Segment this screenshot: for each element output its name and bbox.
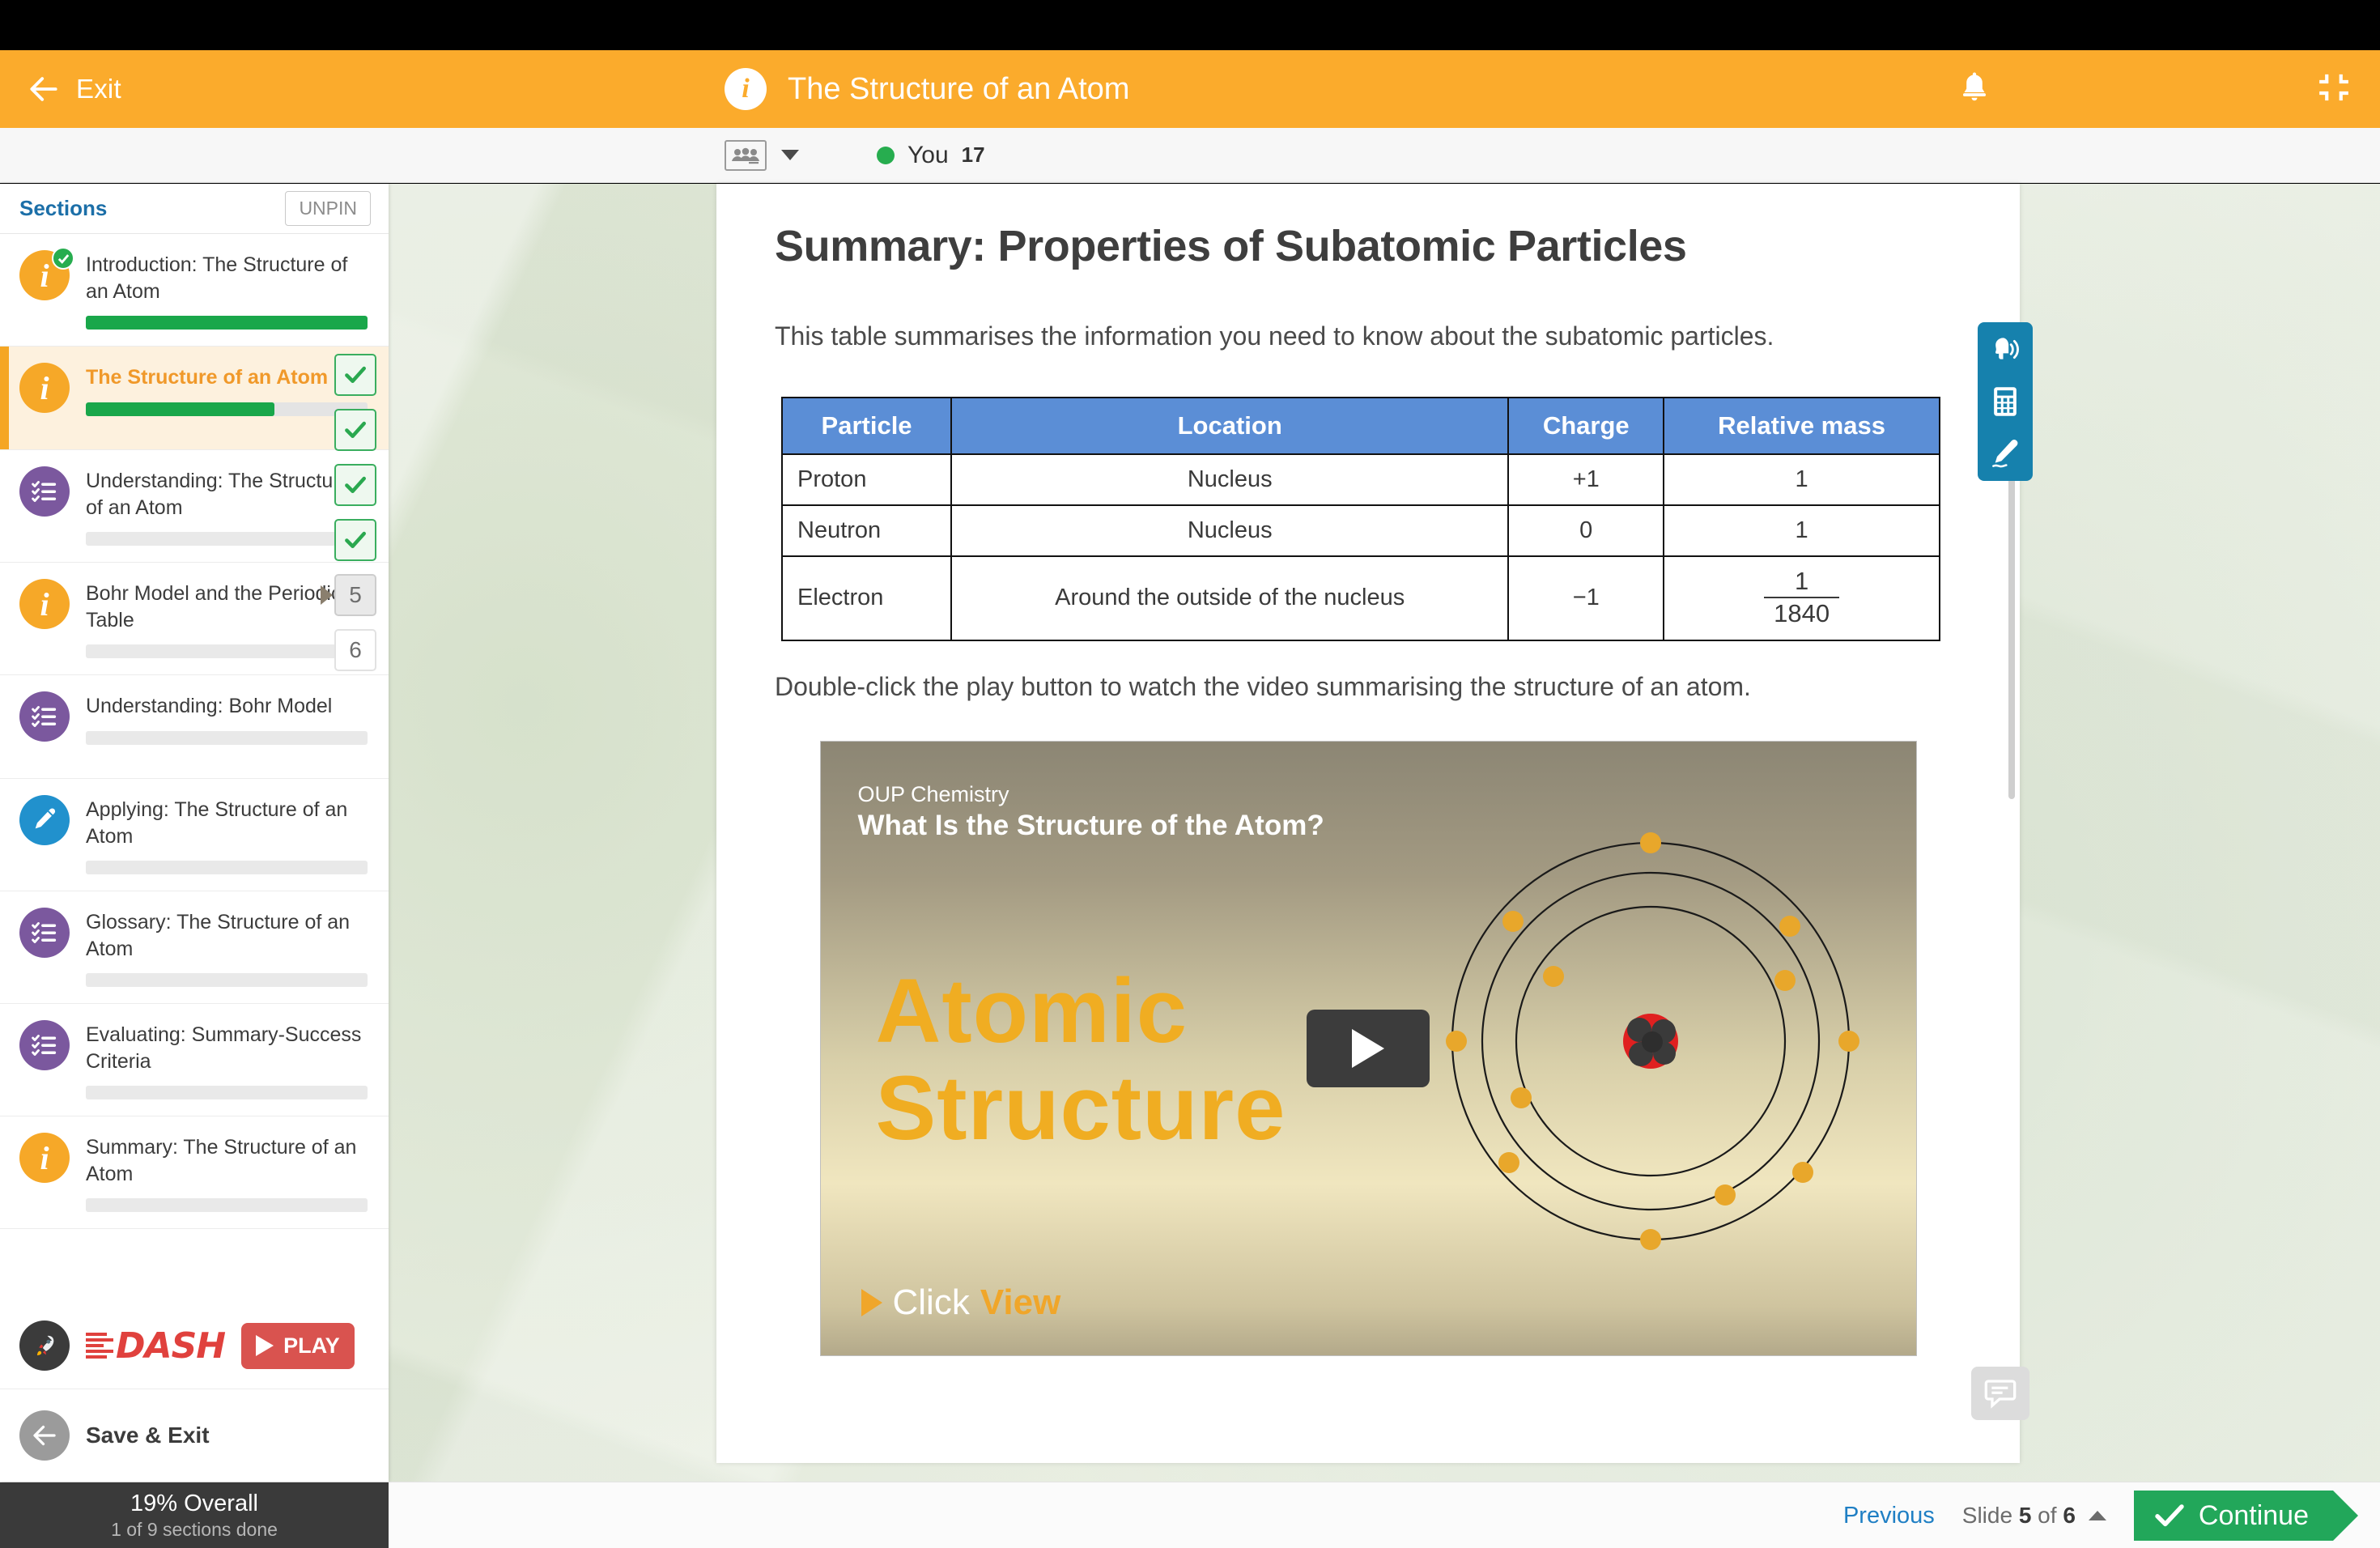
- slide-marker-5[interactable]: 5: [334, 574, 376, 616]
- comment-icon[interactable]: [1971, 1367, 2029, 1420]
- slide-marker-4[interactable]: [334, 519, 376, 561]
- cell-relative-mass: 1: [1664, 505, 1940, 556]
- dash-play-label: PLAY: [283, 1333, 340, 1359]
- cell-relative-mass: 1: [1664, 454, 1940, 505]
- checklist-icon: [19, 908, 70, 958]
- sidebar-header: Sections UNPIN: [0, 184, 389, 234]
- slide-navigation: Previous Slide 5 of 6 Continue: [1843, 1482, 2380, 1548]
- dash-wordmark: DASH: [116, 1325, 225, 1367]
- video-player[interactable]: OUP Chemistry What Is the Structure of t…: [820, 741, 1917, 1356]
- save-and-exit-button[interactable]: Save & Exit: [0, 1389, 389, 1482]
- info-icon: i: [19, 363, 70, 413]
- tools-dock: [1978, 322, 2033, 481]
- cell-charge: 0: [1508, 505, 1664, 556]
- sidebar-item-label: Bohr Model and the Periodic Table: [86, 580, 368, 633]
- section-progress-bar: [86, 861, 368, 874]
- section-progress-bar: [86, 316, 368, 330]
- sidebar-item-label: Understanding: Bohr Model: [86, 693, 368, 720]
- video-play-button[interactable]: [1307, 1010, 1430, 1087]
- sidebar-item-4[interactable]: Understanding: Bohr Model: [0, 675, 389, 779]
- header-title-group: i The Structure of an Atom: [725, 68, 1129, 110]
- overall-progress: 19% Overall 1 of 9 sections done: [0, 1482, 389, 1548]
- info-icon: i: [19, 579, 70, 629]
- section-progress-bar: [86, 532, 368, 546]
- cell-particle: Proton: [782, 454, 951, 505]
- progress-sections: 1 of 9 sections done: [111, 1519, 278, 1541]
- table-row: NeutronNucleus01: [782, 505, 1940, 556]
- section-progress-bar: [86, 1198, 368, 1212]
- play-icon: [1352, 1029, 1384, 1068]
- dash-launch-row[interactable]: DASH PLAY: [0, 1303, 389, 1389]
- video-word-structure: Structure: [876, 1056, 1286, 1160]
- cell-location: Around the outside of the nucleus: [951, 556, 1508, 640]
- dash-play-button[interactable]: PLAY: [241, 1323, 355, 1369]
- previous-button[interactable]: Previous: [1843, 1503, 1935, 1529]
- presence-user[interactable]: You 17: [877, 142, 985, 169]
- subatomic-particles-table: ParticleLocationChargeRelative mass Prot…: [781, 397, 1940, 641]
- slide-prefix: Slide: [1962, 1503, 2012, 1528]
- section-progress-bar: [86, 731, 368, 745]
- unpin-button[interactable]: UNPIN: [285, 191, 371, 226]
- back-arrow-icon: [26, 71, 62, 107]
- save-and-exit-label: Save & Exit: [86, 1423, 210, 1448]
- sidebar-item-6[interactable]: Glossary: The Structure of an Atom: [0, 891, 389, 1004]
- sidebar-heading: Sections: [19, 196, 107, 221]
- presence-count: 17: [962, 142, 985, 168]
- clickview-click-text: Click: [893, 1282, 970, 1323]
- sections-sidebar: Sections UNPIN iIntroduction: The Struct…: [0, 184, 389, 1482]
- cell-location: Nucleus: [951, 505, 1508, 556]
- bottom-bar: 19% Overall 1 of 9 sections done Previou…: [0, 1482, 2380, 1548]
- info-icon: i: [19, 250, 70, 300]
- video-title: What Is the Structure of the Atom?: [858, 810, 1324, 842]
- presence-dropdown-icon[interactable]: [781, 150, 799, 160]
- info-icon: i: [725, 68, 767, 110]
- sidebar-item-5[interactable]: Applying: The Structure of an Atom: [0, 779, 389, 891]
- presence-label: You: [907, 142, 949, 169]
- slide-picker-icon[interactable]: [2089, 1511, 2106, 1520]
- table-header-3: Relative mass: [1664, 398, 1940, 454]
- slide-title: Summary: Properties of Subatomic Particl…: [775, 221, 1961, 271]
- table-header-2: Charge: [1508, 398, 1664, 454]
- sidebar-item-label: Introduction: The Structure of an Atom: [86, 252, 368, 304]
- pencil-icon: [19, 795, 70, 845]
- sidebar-item-0[interactable]: iIntroduction: The Structure of an Atom: [0, 234, 389, 347]
- clickview-logo: Click View: [861, 1282, 1061, 1323]
- slide-current: 5: [2019, 1503, 2032, 1528]
- cell-relative-mass: 11840: [1664, 556, 1940, 640]
- table-row: ProtonNucleus+11: [782, 454, 1940, 505]
- info-icon: i: [19, 1133, 70, 1183]
- calculator-icon[interactable]: [1991, 385, 2020, 418]
- table-header-1: Location: [951, 398, 1508, 454]
- slide-marker-2[interactable]: [334, 409, 376, 451]
- nucleus-icon: [1623, 1014, 1678, 1069]
- annotate-pen-icon[interactable]: [1989, 437, 2021, 470]
- sidebar-item-7[interactable]: Evaluating: Summary-Success Criteria: [0, 1004, 389, 1116]
- clickview-view-text: View: [980, 1282, 1060, 1323]
- table-header-row: ParticleLocationChargeRelative mass: [782, 398, 1940, 454]
- slide-scrollbar[interactable]: [2008, 427, 2015, 799]
- section-done-badge: [52, 247, 74, 270]
- slide-marker-1[interactable]: [334, 354, 376, 396]
- play-icon: [256, 1335, 274, 1356]
- text-to-speech-icon[interactable]: [1989, 334, 2021, 366]
- back-arrow-icon: [19, 1410, 70, 1461]
- dash-logo: DASH: [86, 1325, 225, 1367]
- sidebar-item-label: Evaluating: Summary-Success Criteria: [86, 1022, 368, 1074]
- cell-charge: +1: [1508, 454, 1664, 505]
- check-icon: [2155, 1503, 2184, 1528]
- clickview-play-icon: [861, 1289, 882, 1316]
- section-progress-bar: [86, 402, 368, 416]
- section-progress-bar: [86, 973, 368, 987]
- sidebar-section-list[interactable]: iIntroduction: The Structure of an Atomi…: [0, 234, 389, 1303]
- top-black-strip: [0, 0, 2380, 50]
- cell-particle: Electron: [782, 556, 951, 640]
- cell-particle: Neutron: [782, 505, 951, 556]
- sidebar-item-label: Glossary: The Structure of an Atom: [86, 909, 368, 962]
- sidebar-item-2[interactable]: Understanding: The Structure of an Atom: [0, 450, 389, 563]
- section-progress-bar: [86, 1086, 368, 1099]
- continue-button[interactable]: Continue: [2134, 1491, 2333, 1541]
- people-group-icon[interactable]: [725, 140, 767, 171]
- sidebar-item-3[interactable]: iBohr Model and the Periodic Table: [0, 563, 389, 675]
- bell-icon[interactable]: [1957, 69, 1991, 110]
- video-word-atomic: Atomic: [876, 959, 1188, 1063]
- table-row: ElectronAround the outside of the nucleu…: [782, 556, 1940, 640]
- checklist-icon: [19, 1020, 70, 1070]
- dash-speed-lines: [86, 1333, 113, 1359]
- slide-counter: Slide 5 of 6: [1962, 1503, 2076, 1529]
- exit-fullscreen-icon[interactable]: [2317, 70, 2351, 108]
- page-title: The Structure of an Atom: [788, 72, 1129, 107]
- slide-intro-text: This table summarises the information yo…: [775, 321, 1961, 351]
- slide-total: 6: [2063, 1503, 2076, 1528]
- online-status-dot: [877, 147, 895, 164]
- table-header-0: Particle: [782, 398, 951, 454]
- sidebar-item-8[interactable]: iSummary: The Structure of an Atom: [0, 1116, 389, 1229]
- cell-charge: −1: [1508, 556, 1664, 640]
- section-progress-bar: [86, 644, 368, 658]
- progress-percent: 19% Overall: [130, 1491, 258, 1517]
- sidebar-item-label: Understanding: The Structure of an Atom: [86, 468, 368, 521]
- slide-marker-6[interactable]: 6: [334, 629, 376, 671]
- exit-button[interactable]: Exit: [26, 71, 121, 107]
- sidebar-item-1[interactable]: iThe Structure of an Atom: [0, 347, 389, 450]
- exit-label: Exit: [76, 74, 121, 104]
- slide-joiner: of: [2038, 1503, 2056, 1528]
- sidebar-item-label: Applying: The Structure of an Atom: [86, 797, 368, 849]
- app-header: Exit i The Structure of an Atom: [0, 50, 2380, 128]
- video-instruction-text: Double-click the play button to watch th…: [775, 672, 1961, 702]
- atom-diagram: [1424, 814, 1877, 1268]
- slide-marker-3[interactable]: [334, 464, 376, 506]
- rocket-icon: [19, 1320, 70, 1371]
- slide-canvas: Summary: Properties of Subatomic Particl…: [716, 184, 2020, 1463]
- checklist-icon: [19, 466, 70, 517]
- sidebar-item-label: Summary: The Structure of an Atom: [86, 1134, 368, 1187]
- video-kicker: OUP Chemistry: [858, 782, 1009, 807]
- presence-toolbar: You 17: [0, 128, 2380, 183]
- cell-location: Nucleus: [951, 454, 1508, 505]
- continue-label: Continue: [2199, 1500, 2309, 1532]
- checklist-icon: [19, 691, 70, 742]
- sidebar-item-label: The Structure of an Atom: [86, 364, 368, 391]
